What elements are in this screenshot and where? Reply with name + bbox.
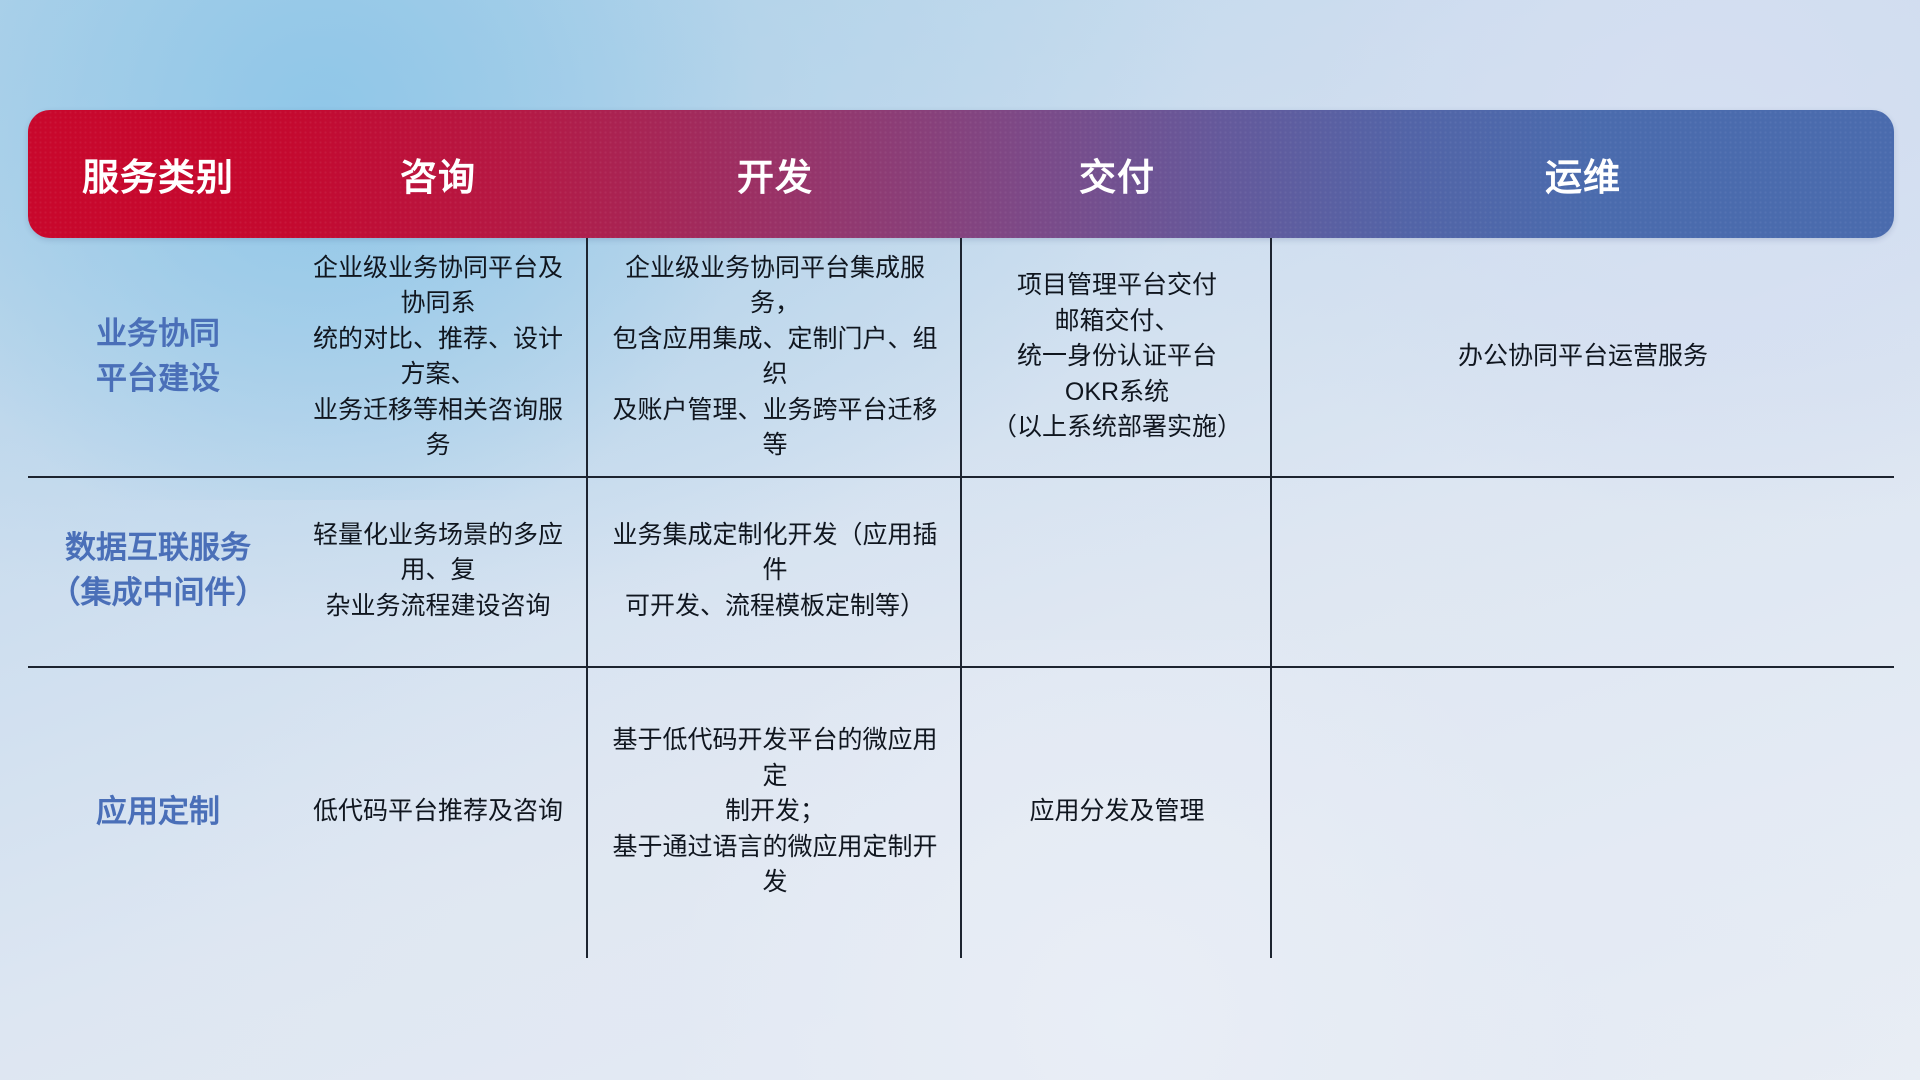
cell-consulting: 企业级业务协同平台及协同系 统的对比、推荐、设计方案、 业务迁移等相关咨询服务 [288,238,588,476]
column-header-category: 服务类别 [82,147,234,201]
cell-operations [1272,476,1894,666]
cell-operations: 办公协同平台运营服务 [1272,238,1894,476]
cell-development: 企业级业务协同平台集成服务， 包含应用集成、定制门户、组织 及账户管理、业务跨平… [588,238,962,476]
cell-category: 业务协同 平台建设 [28,238,288,476]
table-header-row: 服务类别 咨询 开发 交付 运维 [28,110,1894,238]
column-header-consulting: 咨询 [400,147,476,201]
column-header-operations: 运维 [1545,147,1621,201]
cell-development: 业务集成定制化开发（应用插件 可开发、流程模板定制等） [588,476,962,666]
cell-category: 应用定制 [28,666,288,958]
table-body: 业务协同 平台建设 企业级业务协同平台及协同系 统的对比、推荐、设计方案、 业务… [28,238,1894,958]
cell-operations [1272,666,1894,958]
row-divider-2 [28,666,1894,668]
row-divider-1 [28,476,1894,478]
cell-delivery: 应用分发及管理 [962,666,1272,958]
page-root: 服务类别 咨询 开发 交付 运维 业务协同 平台建设 [0,0,1920,1080]
column-header-delivery: 交付 [1079,147,1155,201]
cell-development: 基于低代码开发平台的微应用定 制开发； 基于通过语言的微应用定制开发 [588,666,962,958]
service-matrix-table: 服务类别 咨询 开发 交付 运维 业务协同 平台建设 [28,110,1894,958]
cell-consulting: 轻量化业务场景的多应用、复 杂业务流程建设咨询 [288,476,588,666]
cell-consulting: 低代码平台推荐及咨询 [288,666,588,958]
column-divider-1 [586,238,588,958]
cell-category: 数据互联服务 （集成中间件） [28,476,288,666]
column-divider-3 [1270,238,1272,958]
column-divider-2 [960,238,962,958]
cell-delivery: 项目管理平台交付 邮箱交付、 统一身份认证平台 OKR系统 （以上系统部署实施） [962,238,1272,476]
column-header-development: 开发 [737,147,813,201]
cell-delivery [962,476,1272,666]
